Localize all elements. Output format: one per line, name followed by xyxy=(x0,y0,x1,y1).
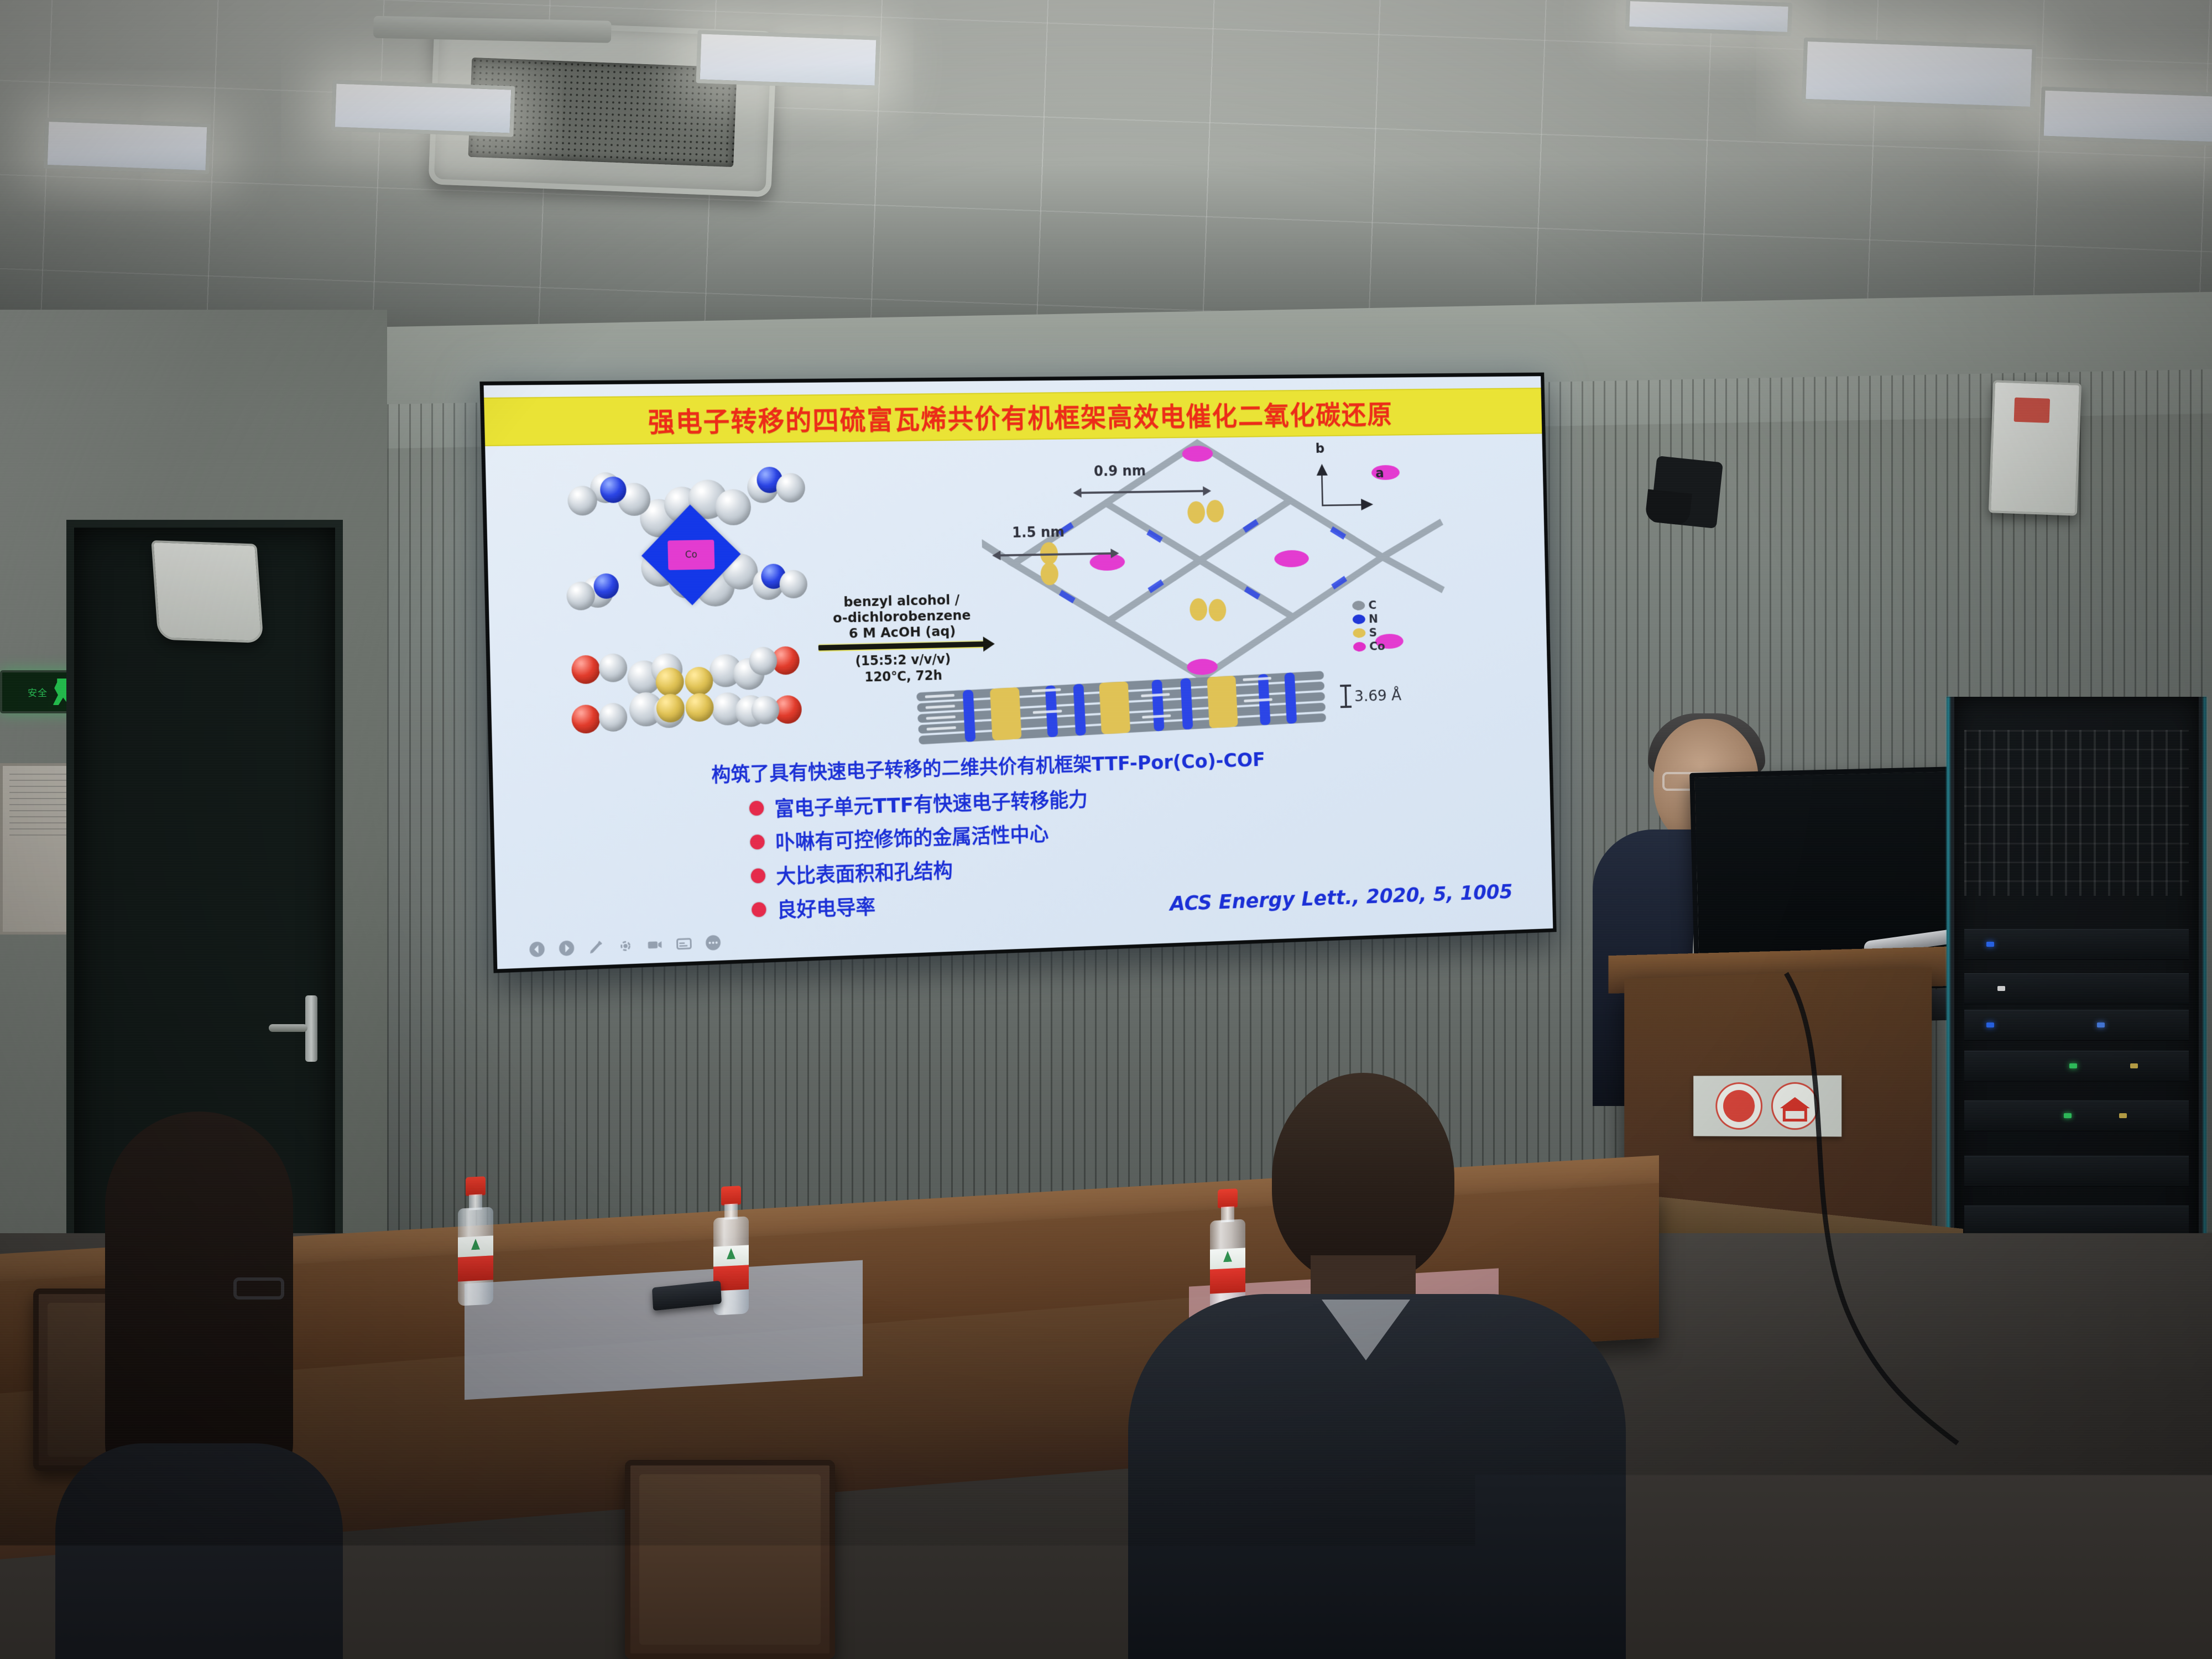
axis-b-label: b xyxy=(1315,441,1324,456)
wall-speaker-icon xyxy=(151,540,263,643)
spacing-bar-icon xyxy=(1340,685,1352,708)
bottle-cap xyxy=(721,1186,741,1206)
crystal-axes-indicator: b a xyxy=(1310,447,1386,507)
audience-person-left xyxy=(55,1112,343,1659)
water-bottle[interactable] xyxy=(458,1176,493,1305)
projection-screen[interactable]: 强电子转移的四硫富瓦烯共价有机框架高效电催化二氧化碳还原 xyxy=(479,373,1556,973)
bullet-dot-icon xyxy=(752,902,766,917)
conference-room-photo: 安全 出口 福建大学行政楼 强电子转移的四硫富瓦烯共价有机框架高效电催化二氧化碳… xyxy=(0,0,2212,1659)
chair[interactable] xyxy=(625,1460,835,1659)
pen-icon[interactable] xyxy=(588,938,604,956)
legend-item: S xyxy=(1353,625,1385,640)
legend-label: S xyxy=(1369,626,1377,639)
legend-item: Co xyxy=(1353,639,1385,654)
reaction-arrow-icon xyxy=(818,641,987,651)
audio-mixer-icon[interactable] xyxy=(1964,730,2189,896)
bullet-text: 良好电导率 xyxy=(776,890,875,923)
audience-person-center xyxy=(1128,1073,1626,1659)
sulfur-dot-icon xyxy=(1353,628,1365,638)
condition-line-5: 120℃, 72h xyxy=(816,666,990,686)
interlayer-spacing-marker: 3.69 Å xyxy=(1340,684,1402,708)
nitrogen-dot-icon xyxy=(1353,614,1365,624)
interlayer-spacing-label: 3.69 Å xyxy=(1354,686,1402,705)
pointer-options-icon[interactable] xyxy=(617,937,634,954)
legend-item: C xyxy=(1352,598,1384,613)
cable xyxy=(1770,968,2002,1465)
legend-label: Co xyxy=(1369,640,1385,654)
presenter-view-icon[interactable] xyxy=(646,936,663,953)
axis-a-label: a xyxy=(1375,465,1384,481)
cof-network-svg xyxy=(979,429,1495,693)
next-slide-icon[interactable] xyxy=(558,940,575,957)
sulfur-atom xyxy=(685,693,714,722)
powerpoint-presenter-toolbar[interactable] xyxy=(529,934,722,958)
presentation-slide: 强电子转移的四硫富瓦烯共价有机框架高效电催化二氧化碳还原 xyxy=(484,376,1553,969)
axis-right-arrow-icon xyxy=(1361,499,1373,510)
bottle-cap xyxy=(466,1176,486,1196)
subtitles-icon[interactable] xyxy=(676,935,692,952)
oxygen-atom xyxy=(571,705,601,734)
atom-color-legend: C N S Co xyxy=(1352,598,1385,654)
reaction-arrow-block: benzyl alcohol / o-dichlorobenzene 6 M A… xyxy=(814,591,990,686)
cobalt-porphyrin-molecule: Co xyxy=(557,459,809,628)
axis-up-arrow-icon xyxy=(1316,464,1328,476)
pore-large-label: 1.5 nm xyxy=(1012,524,1065,541)
audience-torso xyxy=(1128,1294,1626,1659)
bullet-dot-icon xyxy=(750,834,765,849)
exit-sign-label-left: 安全 xyxy=(28,685,48,699)
slide-bullet-list: 富电子单元TTF有快速电子转移能力 卟啉有可控修饰的金属活性中心 大比表面积和孔… xyxy=(749,781,1090,927)
carbon-dot-icon xyxy=(1352,601,1365,611)
audience-hair xyxy=(105,1112,293,1493)
cobalt-dot-icon xyxy=(1353,642,1366,652)
more-options-icon[interactable] xyxy=(705,934,722,951)
slide-citation: ACS Energy Lett., 2020, 5, 1005 xyxy=(1170,880,1513,916)
audience-head xyxy=(1272,1073,1454,1283)
audience-torso xyxy=(55,1443,343,1659)
ttf-tetraaldehyde-molecule xyxy=(556,638,812,748)
legend-item: N xyxy=(1353,612,1385,626)
sulfur-atom xyxy=(655,667,684,697)
fu-character-seal-icon xyxy=(1715,1082,1762,1130)
oxygen-atom xyxy=(571,655,601,684)
legend-label: C xyxy=(1368,598,1376,612)
sulfur-atom xyxy=(685,666,713,696)
bullet-text: 大比表面积和孔结构 xyxy=(776,854,953,890)
previous-slide-icon[interactable] xyxy=(529,941,545,958)
door-handle[interactable] xyxy=(305,995,317,1062)
glasses-icon xyxy=(233,1277,284,1300)
bullet-dot-icon xyxy=(751,868,766,884)
wall-speaker-icon xyxy=(1989,380,2081,515)
cobalt-center: Co xyxy=(667,540,714,570)
projector-mount xyxy=(1650,456,1723,529)
legend-label: N xyxy=(1369,612,1378,625)
cof-framework-diagram: 0.9 nm 1.5 nm xyxy=(979,429,1495,693)
pore-small-label: 0.9 nm xyxy=(1094,463,1146,479)
table-paper xyxy=(465,1260,863,1400)
bullet-dot-icon xyxy=(749,800,764,815)
